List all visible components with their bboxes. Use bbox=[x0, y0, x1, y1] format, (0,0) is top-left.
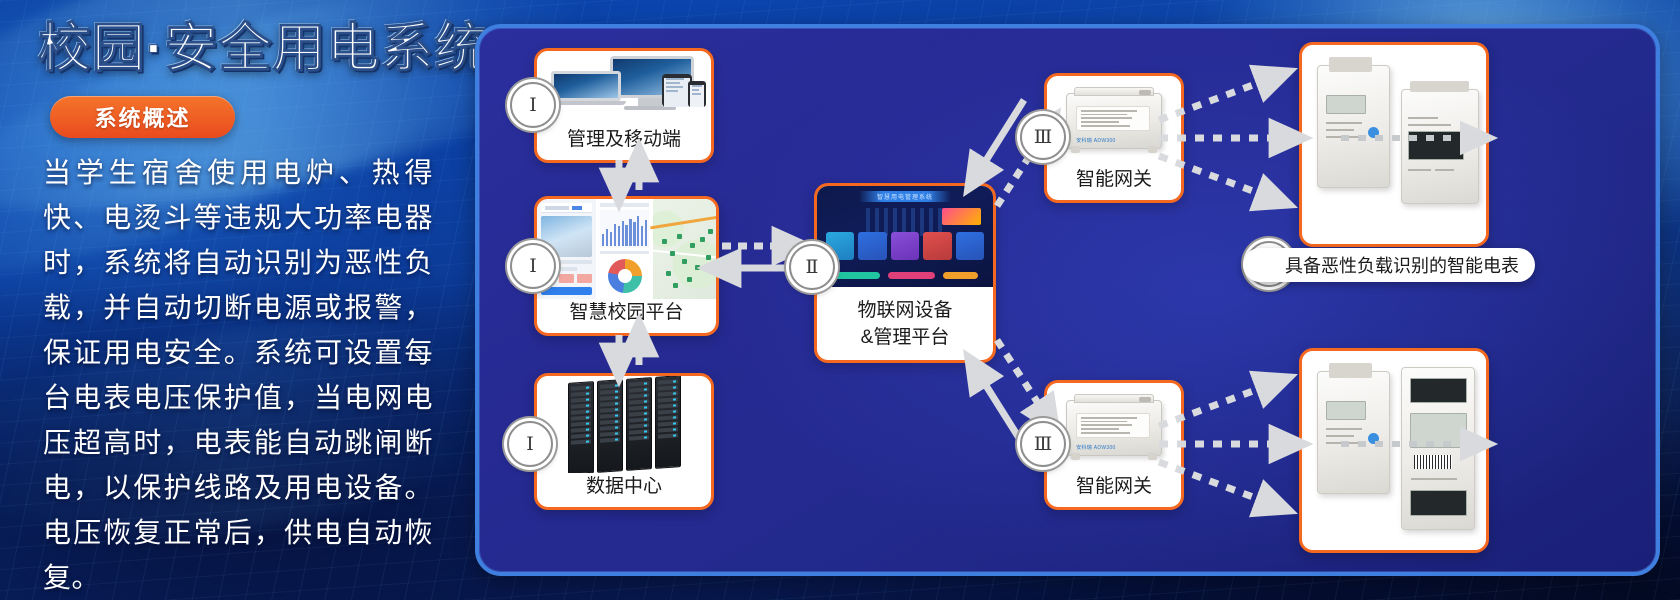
marker-smart-campus: Ⅰ bbox=[510, 243, 556, 289]
overview-column: 校园·安全用电系统 系统概述 当学生宿舍使用电炉、热得快、电烫斗等违规大功率电器… bbox=[0, 0, 470, 600]
overview-badge-label: 系统概述 bbox=[94, 101, 190, 133]
marker-iot-platform: Ⅱ bbox=[789, 244, 835, 290]
overview-description: 当学生宿舍使用电炉、热得快、电烫斗等违规大功率电器时，系统将自动识别为恶性负载，… bbox=[43, 150, 433, 600]
marker-data-center: Ⅰ bbox=[507, 421, 553, 467]
marker-gateway-bottom: Ⅲ bbox=[1020, 421, 1066, 467]
marker-gateway-top: Ⅲ bbox=[1020, 114, 1066, 160]
architecture-diagram-panel: 管理及移动端 Ⅰ bbox=[475, 24, 1660, 576]
diagram-connectors bbox=[479, 28, 1656, 572]
slide-canvas: 校园·安全用电系统 系统概述 当学生宿舍使用电炉、热得快、电烫斗等违规大功率电器… bbox=[0, 0, 1680, 600]
callout-smart-meter[interactable]: 具备恶性负载识别的智能电表 bbox=[1243, 248, 1535, 282]
page-title: 校园·安全用电系统 bbox=[38, 16, 489, 82]
marker-admin-mobile: Ⅰ bbox=[510, 82, 556, 128]
callout-label: 具备恶性负载识别的智能电表 bbox=[1285, 252, 1519, 278]
overview-badge: 系统概述 bbox=[50, 96, 235, 138]
